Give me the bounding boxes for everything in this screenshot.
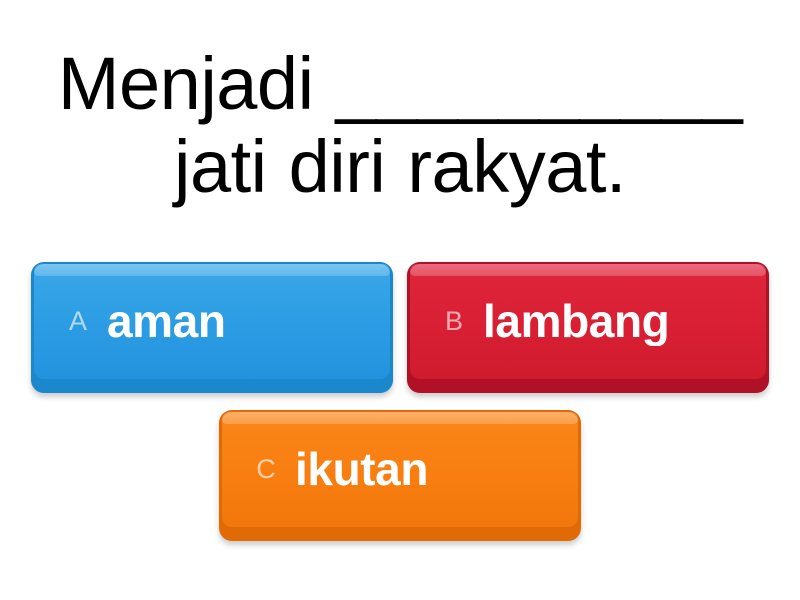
answer-option-a[interactable]: A aman [31, 262, 393, 393]
question-area: Menjadi __________ jati diri rakyat. [0, 18, 800, 233]
answer-option-b[interactable]: B lambang [407, 262, 769, 393]
answer-option-a-label: aman [107, 297, 375, 345]
answer-option-b-content: B lambang [407, 297, 769, 357]
answer-row-bottom: C ikutan [0, 410, 800, 541]
answer-option-c[interactable]: C ikutan [219, 410, 581, 541]
answer-option-c-letter: C [237, 456, 295, 483]
answer-option-b-gloss [410, 264, 766, 276]
quiz-stage: Menjadi __________ jati diri rakyat. A a… [0, 0, 800, 600]
answer-option-a-gloss [34, 264, 390, 276]
answer-option-a-letter: A [49, 308, 107, 335]
answer-option-c-label: ikutan [295, 445, 563, 493]
answer-row-top: A aman B lambang [0, 262, 800, 393]
question-text: Menjadi __________ jati diri rakyat. [58, 43, 742, 209]
answer-option-a-content: A aman [31, 297, 393, 357]
answer-option-b-letter: B [425, 308, 483, 335]
answer-option-b-label: lambang [483, 297, 751, 345]
answer-option-c-gloss [222, 412, 578, 424]
answer-option-c-content: C ikutan [219, 445, 581, 505]
answer-options-list: A aman B lambang C ikutan [0, 262, 800, 572]
